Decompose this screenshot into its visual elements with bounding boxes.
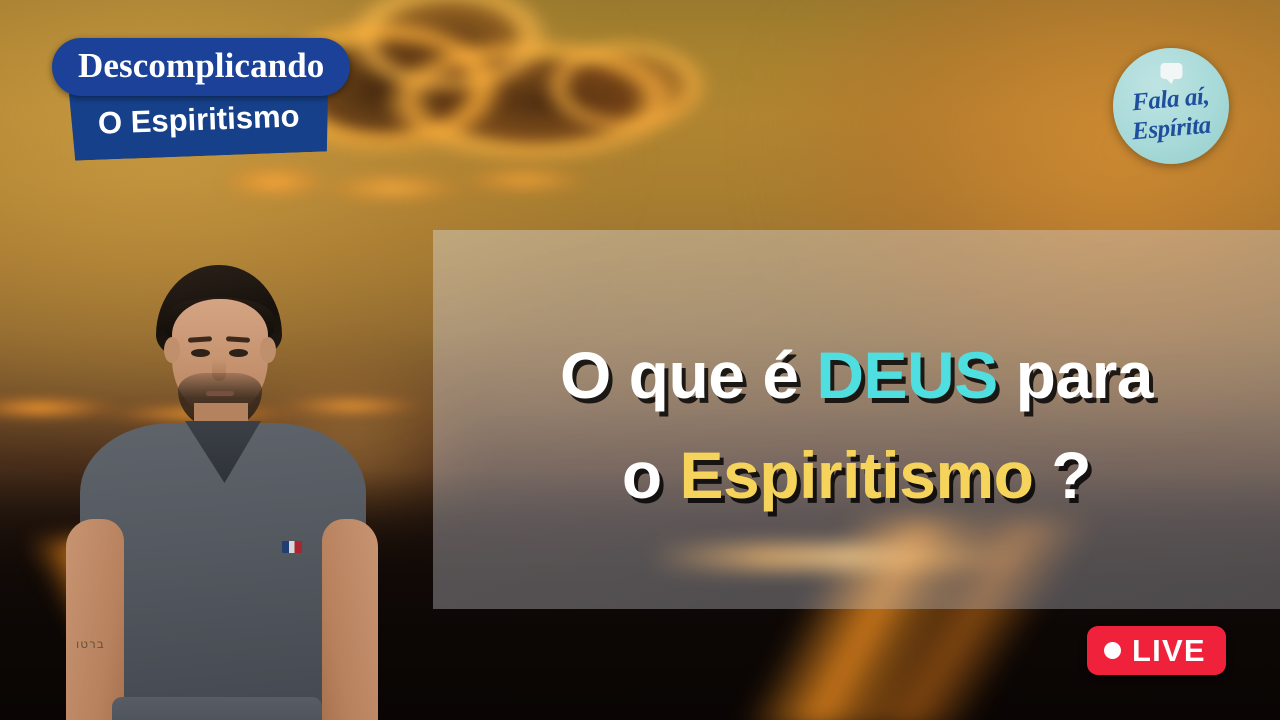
- presenter-ear-right: [260, 337, 276, 363]
- presenter-eye-right: [229, 349, 248, 357]
- presenter-mouth: [206, 391, 234, 396]
- record-dot-icon: [1104, 642, 1121, 659]
- series-title-pill: Descomplicando: [52, 38, 350, 96]
- headline-line-1: O que é DEUS para: [560, 342, 1153, 408]
- channel-logo-line2: Espírita: [1131, 113, 1212, 145]
- headline-text-2a: o: [622, 438, 680, 512]
- presenter-arm-right: [322, 519, 378, 720]
- headline-block: O que é DEUS para o Espiritismo ?: [433, 230, 1280, 609]
- channel-logo[interactable]: Fala aí, Espírita: [1113, 48, 1229, 164]
- live-badge-label: LIVE: [1132, 635, 1206, 666]
- channel-logo-line1: Fala aí,: [1131, 84, 1210, 116]
- presenter-ear-left: [164, 337, 180, 363]
- presenter-arm-left: [66, 519, 124, 720]
- presenter-photo: ברטו: [60, 265, 380, 720]
- headline-highlight-espiritismo: Espiritismo: [680, 438, 1034, 512]
- series-title-group: O Espiritismo Descomplicando: [52, 38, 350, 96]
- headline-line-2: o Espiritismo ?: [622, 442, 1091, 508]
- live-badge[interactable]: LIVE: [1087, 626, 1226, 675]
- presenter-arm-tattoo: ברטו: [76, 637, 118, 650]
- speech-bubble-icon: [1160, 63, 1182, 79]
- headline-highlight-deus: DEUS: [816, 338, 997, 412]
- headline-text-1b: para: [998, 338, 1153, 412]
- tshirt-brand-logo-icon: [282, 541, 302, 553]
- headline-text-1a: O que é: [560, 338, 816, 412]
- presenter-eye-left: [191, 349, 210, 357]
- presenter-trousers: [112, 697, 322, 720]
- headline-text-2b: ?: [1033, 438, 1091, 512]
- video-thumbnail: ברטו O Espiritismo Descomplicando Fala a…: [0, 0, 1280, 720]
